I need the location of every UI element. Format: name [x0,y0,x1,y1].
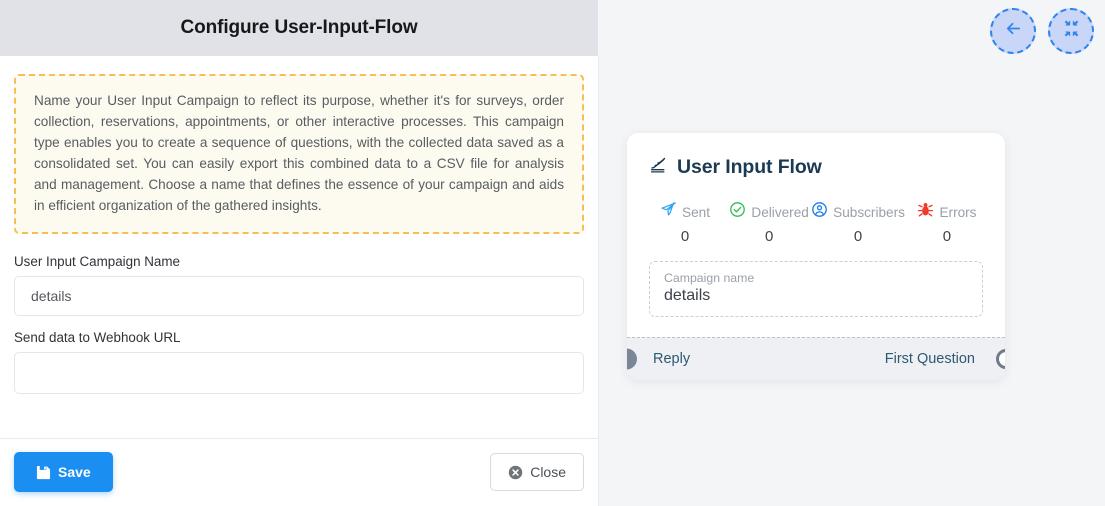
campaign-name-readout-label: Campaign name [664,271,968,285]
flow-node-card[interactable]: User Input Flow Sent 0 [627,133,1005,380]
fit-view-button[interactable] [1048,8,1094,54]
modal-footer: Save Close [0,438,598,506]
paper-plane-icon [660,201,677,223]
webhook-url-input[interactable] [14,352,584,394]
node-footer-first-question-label: First Question [885,351,989,367]
stat-delivered-value: 0 [765,228,773,245]
floppy-disk-icon [36,465,51,480]
node-footer: Reply First Question [627,337,1005,380]
campaign-name-input[interactable] [14,276,584,316]
node-header: User Input Flow [627,133,1005,179]
configure-modal: Configure User-Input-Flow Name your User… [0,0,598,506]
app-root: Configure User-Input-Flow Name your User… [0,0,1105,506]
stat-sent-value: 0 [681,228,689,245]
save-button-label: Save [58,464,91,480]
stat-subscribers-value: 0 [854,228,862,245]
webhook-url-field-group: Send data to Webhook URL [14,330,584,394]
canvas-controls [990,8,1094,54]
stat-sent: Sent 0 [643,201,727,245]
stat-delivered: Delivered 0 [727,201,811,245]
user-circle-icon [811,201,828,223]
panel-divider [598,56,599,506]
stat-subscribers-label: Subscribers [833,205,905,220]
bug-icon [917,201,934,223]
compress-arrows-icon [1062,19,1081,43]
webhook-url-label: Send data to Webhook URL [14,330,584,345]
stat-subscribers: Subscribers 0 [811,201,905,245]
node-footer-reply-label: Reply [643,351,690,367]
node-title: User Input Flow [677,156,822,179]
campaign-name-readout: Campaign name details [649,261,983,317]
info-callout-text: Name your User Input Campaign to reflect… [34,90,564,216]
stat-delivered-label: Delivered [751,205,808,220]
info-callout: Name your User Input Campaign to reflect… [14,74,584,234]
stat-errors-label: Errors [939,205,976,220]
campaign-name-field-group: User Input Campaign Name [14,254,584,316]
page-title: Configure User-Input-Flow [180,17,417,39]
campaign-name-label: User Input Campaign Name [14,254,584,269]
signature-write-icon [649,155,668,179]
back-button[interactable] [990,8,1036,54]
cancel-button[interactable]: Close [490,453,584,491]
cancel-button-label: Close [530,464,566,480]
stat-errors-value: 0 [943,228,951,245]
campaign-name-readout-value: details [664,287,968,305]
node-input-handle[interactable] [627,349,637,370]
modal-header: Configure User-Input-Flow [0,0,598,56]
circle-x-icon [508,465,523,480]
node-stats: Sent 0 Delivered 0 [627,179,1005,261]
check-circle-icon [729,201,746,223]
arrow-left-icon [1004,19,1023,43]
stat-errors: Errors 0 [905,201,989,245]
node-output-handle[interactable] [996,349,1005,369]
flow-canvas[interactable]: User Input Flow Sent 0 [598,0,1105,506]
modal-body: Name your User Input Campaign to reflect… [0,56,598,438]
save-button[interactable]: Save [14,452,113,492]
stat-sent-label: Sent [682,205,710,220]
